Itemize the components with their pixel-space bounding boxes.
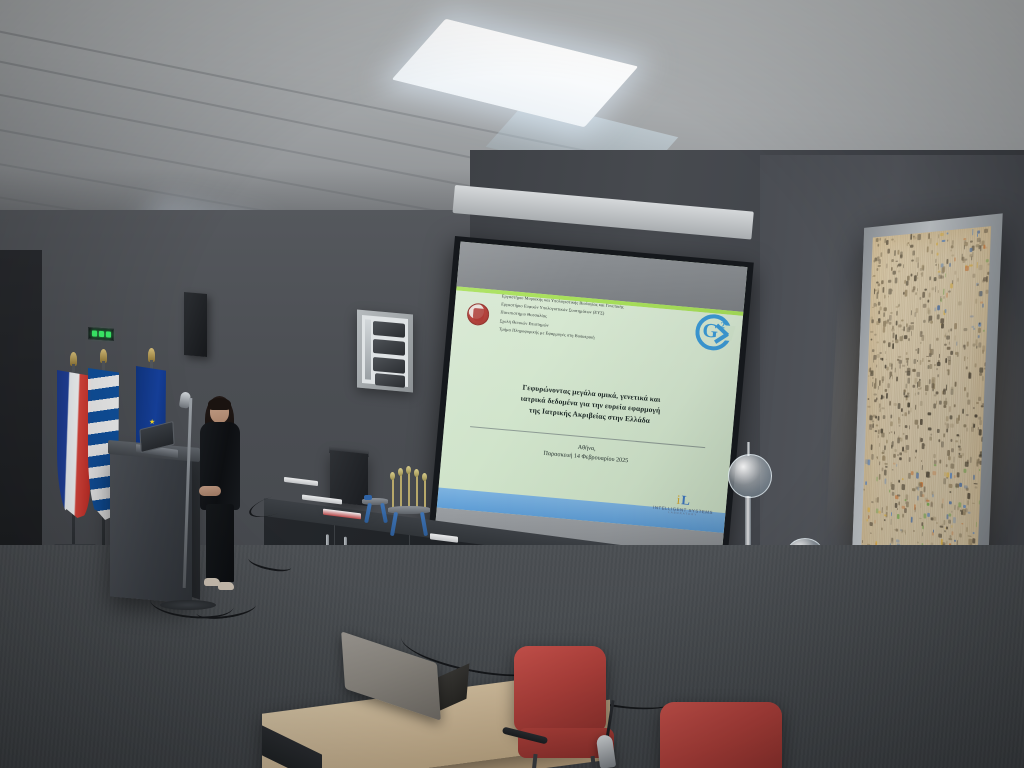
slide-place-date: Αθήνα, Παρασκευή 14 Φεβρουαρίου 2025	[471, 434, 702, 474]
eu-star: ★	[149, 418, 154, 423]
slide-organization-lines: Εργαστήριο Μοριακής και Υπολογιστικής Βι…	[499, 292, 726, 354]
presenter-legs	[206, 504, 234, 582]
lab-decor-left	[386, 470, 432, 510]
presenter-body	[200, 422, 240, 510]
presenter	[196, 398, 242, 590]
isl-logo: iL INTELLIGENT SYSTEMS LABORATORY	[652, 491, 716, 518]
presenter-shoe	[218, 582, 234, 590]
chair[interactable]	[660, 702, 790, 768]
university-seal-icon	[466, 302, 490, 326]
cg2-logo-icon: G 2	[694, 312, 733, 351]
conference-room-scene: ★ ★ Εργαστήριο Μοριακής και Υπολογιστική…	[0, 0, 1024, 768]
wall-display-panel	[357, 310, 413, 393]
left-wall-dark	[0, 250, 42, 550]
podium[interactable]	[110, 446, 192, 603]
french-flag	[57, 370, 91, 518]
ceiling-light-fixture	[392, 19, 639, 127]
lab-decor-left-2	[362, 478, 388, 512]
slide-content: Εργαστήριο Μοριακής και Υπολογιστικής Βι…	[434, 242, 748, 566]
slide-title: Γεφυρώνοντας μεγάλα ομικά, γενετικά και …	[466, 376, 716, 432]
exit-sign	[88, 327, 114, 341]
presenter-hands	[199, 486, 221, 496]
projection-screen[interactable]: Εργαστήριο Μοριακής και Υπολογιστικής Βι…	[427, 236, 754, 573]
wall-speaker	[184, 292, 207, 357]
